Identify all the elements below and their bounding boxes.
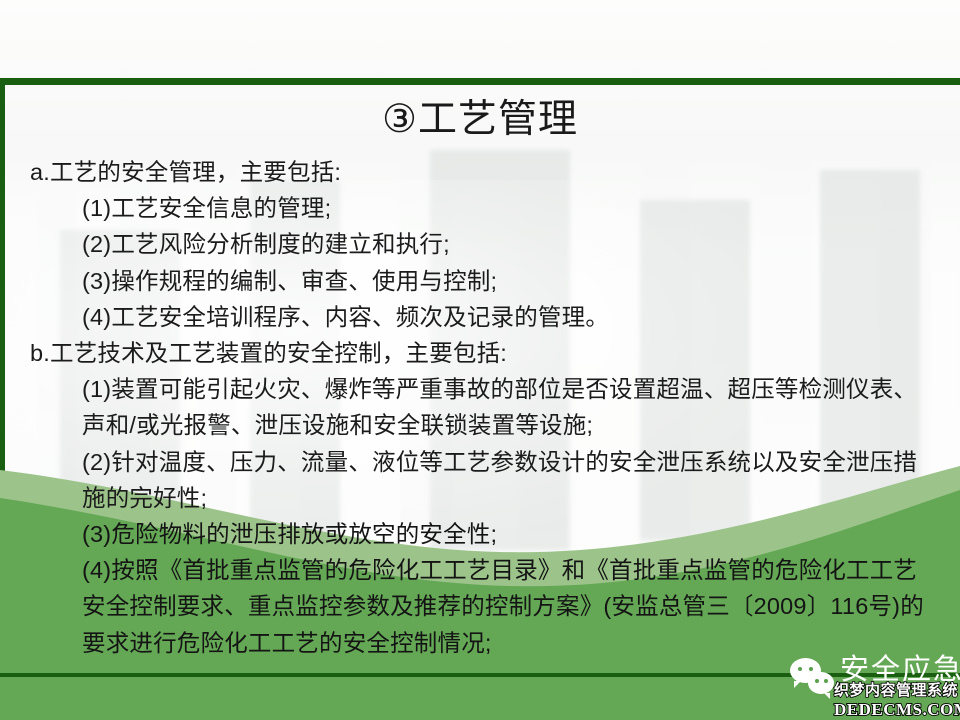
presentation-slide: ③工艺管理 a.工艺的安全管理，主要包括: (1)工艺安全信息的管理; (2)工… (0, 0, 960, 720)
body-line: b.工艺技术及工艺装置的安全控制，主要包括: (30, 335, 950, 371)
wechat-eye-dot (798, 667, 802, 671)
page-title: ③工艺管理 (0, 98, 960, 143)
watermark-cms-label: 织梦内容管理系统 (834, 682, 958, 700)
wechat-eye-dot (824, 679, 828, 683)
watermark: 安全应急 织梦内容管理系统 DEDECMS.COM (786, 652, 960, 720)
wechat-eye-dot (809, 667, 813, 671)
body-line: (3)危险物料的泄压排放或放空的安全性; (30, 516, 950, 552)
wechat-eye-dot (815, 679, 819, 683)
body-line: (1)装置可能引起火灾、爆炸等严重事故的部位是否设置超温、超压等检测仪表、 (30, 371, 950, 407)
body-line: (4)按照《首批重点监管的危险化工工艺目录》和《首批重点监管的危险化工工艺 (30, 552, 950, 588)
body-line: (1)工艺安全信息的管理; (30, 190, 950, 226)
wechat-bubble-small (808, 672, 834, 694)
body-line: (2)工艺风险分析制度的建立和执行; (30, 226, 950, 262)
body-line: 施的完好性; (30, 480, 950, 516)
body-line: (2)针对温度、压力、流量、液位等工艺参数设计的安全泄压系统以及安全泄压措 (30, 444, 950, 480)
wechat-icon (790, 658, 838, 700)
body-line: a.工艺的安全管理，主要包括: (30, 154, 950, 190)
body-line: 安全控制要求、重点监控参数及推荐的控制方案》(安监总管三〔2009〕116号)的 (30, 588, 950, 624)
watermark-cms-domain: DEDECMS.COM (834, 700, 960, 719)
body-line: (3)操作规程的编制、审查、使用与控制; (30, 263, 950, 299)
body-line: 声和/或光报警、泄压设施和安全联锁装置等设施; (30, 407, 950, 443)
top-rule-line (0, 78, 960, 85)
slide-body-text: a.工艺的安全管理，主要包括: (1)工艺安全信息的管理; (2)工艺风险分析制… (30, 154, 950, 661)
body-line: (4)工艺安全培训程序、内容、频次及记录的管理。 (30, 299, 950, 335)
